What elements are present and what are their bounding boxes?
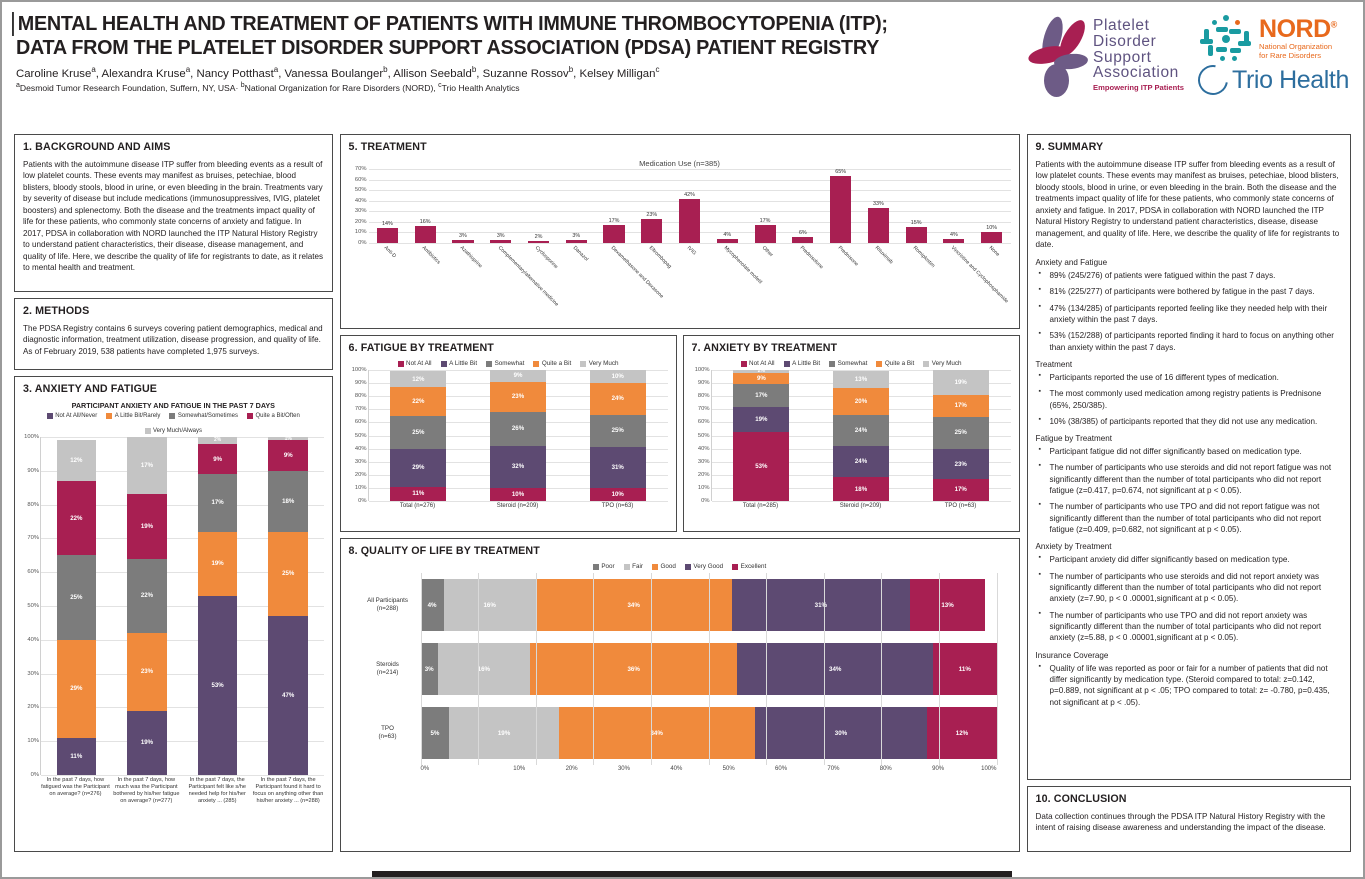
section-9-groups: Anxiety and Fatigue89% (245/276) of pati… [1036,258,1342,708]
bar-row: All Participants(n=288)4%16%34%31%13% [355,573,997,637]
legend-swatch-icon [47,413,53,419]
y-axis-tick: 70% [27,535,39,541]
bar-segment: 4% [421,579,444,631]
y-axis-tick: 40% [355,198,367,204]
gridline [593,701,594,765]
section-methods: 2. METHODS The PDSA Registry contains 6 … [14,298,333,370]
summary-bullet: 10% (38/385) of participants reported th… [1036,416,1342,427]
summary-list: Participants reported the use of 16 diff… [1036,372,1342,427]
y-axis-tick: 90% [355,380,367,386]
bar [679,199,700,243]
bar-segment: 26% [490,412,546,446]
bar-slot: 3% [444,169,482,243]
bar-segment: 34% [559,707,755,759]
x-axis-category: In the past 7 days, how fatigued was the… [40,777,111,805]
gridline [881,637,882,701]
x-axis-tick: 50% [682,766,734,772]
gridline [766,573,767,637]
stacked-bar: 53%19%17%9%2% [198,437,238,775]
x-axis-label-slot: Azathioprine [444,244,482,330]
gridline [997,573,998,637]
x-axis-label-slot: Vincristine and Cyclophosphamide [935,244,973,330]
author-list: Caroline Krusea, Alexandra Krusea, Nancy… [16,65,1020,81]
section-8-heading: 8. QUALITY OF LIFE BY TREATMENT [349,545,1011,557]
bar-segment: 25% [390,416,446,449]
bar-slot: 4% [935,169,973,243]
x-axis-label-slot: Prednisone [822,244,860,330]
bar-value-label: 4% [723,232,731,238]
bar-segment: 25% [590,415,646,448]
legend-item: Somewhat [486,360,524,367]
nord-wordmark: NORD® National Organization for Rare Dis… [1259,17,1337,60]
bar-slot: 4% [708,169,746,243]
legend-item: Not At All [741,360,775,367]
summary-bullet: The number of participants who use stero… [1036,462,1342,496]
bar-segment: 22% [390,387,446,416]
header-title-block: MENTAL HEALTH AND TREATMENT OF PATIENTS … [16,12,1028,94]
section-2-heading: 2. METHODS [23,305,324,317]
section-quality-of-life-by-treatment: 8. QUALITY OF LIFE BY TREATMENT PoorFair… [340,538,1020,852]
section-7-x-axis: Total (n=285)Steroid (n=209)TPO (n=63) [711,503,1011,511]
bar-slot: 10% [973,169,1011,243]
summary-group-title: Anxiety and Fatigue [1036,258,1342,267]
x-axis-category: Steroid (n=209) [468,503,568,511]
summary-group-title: Anxiety by Treatment [1036,542,1342,551]
gridline [824,701,825,765]
y-axis-tick: 40% [27,637,39,643]
nord-sub-line-2: for Rare Disorders [1259,52,1337,61]
summary-bullet: Participants reported the use of 16 diff… [1036,372,1342,383]
bar-segment: 17% [933,395,989,417]
x-axis-tick: 0% [421,766,473,772]
gridline [421,637,422,701]
legend-item: Very Much [923,360,961,367]
gridline [766,637,767,701]
y-axis-tick: 0% [31,772,39,778]
gridline [369,501,668,502]
legend-label: Very Good [693,563,723,570]
legend-item: Very Good [685,563,723,570]
legend-item: Somewhat [829,360,867,367]
x-axis-label-slot: Romiplostim [897,244,935,330]
pdsa-line-2: Disorder [1093,34,1184,50]
x-axis-tick: 100% [944,766,996,772]
bar-segment: 29% [390,449,446,487]
summary-bullet: 81% (225/277) of participants were bothe… [1036,286,1342,297]
bar-slot: 19%23%22%19%17% [112,437,183,775]
bar-group: 14%16%3%3%2%3%17%23%42%4%17%6%65%33%15%4… [369,169,1011,243]
x-axis-category: In the past 7 days, how much was the Par… [111,777,182,805]
bar-segment: 9% [198,444,238,474]
bar-segment: 9% [490,370,546,382]
legend-label: Poor [601,563,614,570]
header-logos: Platelet Disorder Support Association Em… [1028,12,1349,96]
legend-label: Quite a Bit/Often [255,413,299,419]
legend-swatch-icon [169,413,175,419]
x-axis-category: Anti-D [383,245,397,259]
legend-swatch-icon [784,361,790,367]
legend-label: Quite a Bit [542,360,571,367]
gridline [651,701,652,765]
summary-bullet: Participant fatigue did not differ signi… [1036,446,1342,457]
x-axis-tick: 70% [787,766,839,772]
y-axis-tick: 30% [698,459,710,465]
gridline [881,573,882,637]
bar-segment: 19% [733,407,789,432]
bar-segment: 23% [933,449,989,479]
bar-value-label: 3% [572,233,580,239]
legend-label: Somewhat [838,360,868,367]
section-3-chart-title: PARTICIPANT ANXIETY AND FATIGUE IN THE P… [23,401,324,410]
bar-slot: 53%19%17%9%2% [182,437,253,775]
y-axis-tick: 20% [698,472,710,478]
summary-bullet: Quality of life was reported as poor or … [1036,663,1342,708]
gridline [939,573,940,637]
legend-label: Fair [632,563,643,570]
bar-segment: 25% [933,417,989,449]
bar-slot: 15% [897,169,935,243]
bar-value-label: 42% [684,192,695,198]
bar-segment: 47% [268,616,308,775]
y-axis-tick: 0% [358,498,366,504]
bar-segment: 17% [733,384,789,406]
legend-label: Not At All [406,360,432,367]
section-5-chart-title: Medication Use (n=385) [349,159,1011,168]
y-axis-tick: 100% [24,434,39,440]
bar [755,225,776,243]
y-axis-tick: 80% [27,502,39,508]
bar-slot: 2% [520,169,558,243]
bar-value-label: 65% [835,169,846,175]
bar-slot: 17% [595,169,633,243]
section-3-legend: Not At All/NeverA Little Bit/RarelySomew… [23,413,324,434]
y-axis-category: All Participants(n=288) [355,597,421,613]
bar-segment: 3% [421,643,438,695]
x-axis-label-slot: IVIG [671,244,709,330]
nord-burst-icon [1198,15,1254,63]
y-axis-tick: 10% [698,485,710,491]
section-8-plot: All Participants(n=288)4%16%34%31%13%Ste… [355,573,997,765]
section-6-plot: 0%10%20%30%40%50%60%70%80%90%100%11%29%2… [368,370,668,501]
section-10-heading: 10. CONCLUSION [1036,793,1342,805]
bar-slot: 6% [784,169,822,243]
summary-bullet: 47% (134/285) of participants reported f… [1036,303,1342,326]
summary-bullet: The number of participants who use stero… [1036,571,1342,605]
summary-bullet: The number of participants who use TPO a… [1036,610,1342,644]
bar-segment: 53% [733,432,789,501]
y-axis-tick: 0% [358,240,366,246]
summary-group-title: Treatment [1036,360,1342,369]
bar-slot: 53%19%17%9%2% [712,370,812,501]
bar-value-label: 6% [799,230,807,236]
legend-swatch-icon [486,361,492,367]
legend-label: A Little Bit [792,360,820,367]
x-axis-tick: 30% [578,766,630,772]
y-axis-tick: 50% [698,433,710,439]
bar-segment: 19% [127,711,167,775]
legend-swatch-icon [398,361,404,367]
y-axis-tick: 40% [355,446,367,452]
summary-bullet: Participant anxiety did differ significa… [1036,554,1342,565]
pdsa-line-4: Association [1093,65,1184,81]
bar-segment: 9% [268,440,308,470]
x-axis-label-slot: Cyclosporine [520,244,558,330]
legend-label: Very Much [589,360,619,367]
bar-value-label: 3% [497,233,505,239]
section-1-heading: 1. BACKGROUND AND AIMS [23,141,324,153]
gridline [997,637,998,701]
trio-health-logo: Trio Health [1198,65,1349,95]
bar-segment: 34% [536,579,732,631]
bar [452,240,473,243]
section-5-plot: 0%10%20%30%40%50%60%70%14%16%3%3%2%3%17%… [369,169,1011,243]
legend-label: Somewhat/Sometimes [178,413,238,419]
x-axis-tick: 80% [839,766,891,772]
section-2-body: The PDSA Registry contains 6 surveys cov… [23,323,324,357]
y-axis-category: TPO(n=63) [355,725,421,741]
summary-bullet: 89% (245/276) of patients were fatigued … [1036,270,1342,281]
section-3-x-axis: In the past 7 days, how fatigued was the… [40,777,324,805]
stacked-bar: 10%32%26%23%9% [490,370,546,501]
bar-group: 11%29%25%22%12%19%23%22%19%17%53%19%17%9… [41,437,324,775]
x-axis-category: Eltrombopag [648,245,673,270]
gridline [421,701,422,765]
y-axis-tick: 10% [27,738,39,744]
section-6-legend: Not At AllA Little BitSomewhatQuite a Bi… [349,360,668,367]
legend-item: A Little Bit [784,360,821,367]
section-7-plot: 0%10%20%30%40%50%60%70%80%90%100%53%19%1… [711,370,1011,501]
bar-segment: 16% [438,643,530,695]
gridline [536,701,537,765]
x-axis-category: Prednisone [836,245,858,267]
section-6-heading: 6. FATIGUE BY TREATMENT [349,342,668,354]
legend-item: Quite a Bit/Often [247,413,300,419]
gridline [709,701,710,765]
y-axis-tick: 100% [352,367,367,373]
bar-track: 4%16%34%31%13% [421,573,997,637]
bar-segment: 32% [490,446,546,488]
summary-group-title: Insurance Coverage [1036,651,1342,660]
x-axis-category: TPO (n=63) [911,503,1011,511]
bar-segment: 24% [590,383,646,414]
poster-columns: 1. BACKGROUND AND AIMS Patients with the… [10,134,1355,852]
bar-segment: 19% [449,707,558,759]
bar-slot: 42% [671,169,709,243]
legend-item: Not At All [398,360,432,367]
bar-slot: 14% [369,169,407,243]
bar [906,227,927,243]
footer-strip [2,869,1363,877]
stacked-bar: 11%29%25%22%12% [390,370,446,501]
section-conclusion: 10. CONCLUSION Data collection continues… [1027,786,1351,852]
x-axis-category: None [987,245,1000,258]
trio-swirl-icon [1192,59,1234,101]
bar [641,219,662,243]
footer-bar [372,871,1012,877]
section-5-heading: 5. TREATMENT [349,141,1011,153]
gridline [41,775,324,776]
x-axis-category: Cyclosporine [534,245,559,270]
bar-slot: 33% [859,169,897,243]
x-axis-category: Azathioprine [459,245,483,269]
bar-segment: 24% [833,415,889,446]
bar [943,239,964,243]
bar-value-label: 15% [911,220,922,226]
x-axis-label-slot: Prednisolone [784,244,822,330]
bar-row: Steroids(n=214)3%16%36%34%11% [355,637,997,701]
legend-item: Very Much/Always [145,428,203,434]
y-axis-tick: 30% [355,208,367,214]
x-axis-category: Danazol [572,245,589,262]
stacked-bar: 11%29%25%22%12% [57,437,97,775]
y-axis-tick: 70% [355,166,367,172]
bar-value-label: 33% [873,201,884,207]
gridline [709,573,710,637]
bar [490,240,511,243]
legend-item: Somewhat/Sometimes [169,413,238,419]
y-axis-tick: 0% [701,498,709,504]
legend-label: Excellent [741,563,767,570]
y-axis-tick: 30% [27,671,39,677]
gridline [824,573,825,637]
section-8-x-axis: 0%10%20%30%40%50%60%70%80%90%100% [421,766,997,772]
bar-segment: 12% [927,707,996,759]
gridline [709,637,710,701]
gridline [651,573,652,637]
y-axis-category: Steroids(n=214) [355,661,421,677]
section-1-body: Patients with the autoimmune disease ITP… [23,159,324,274]
x-axis-category: Romiplostim [912,245,936,269]
bar-segment: 22% [57,481,97,555]
bar-value-label: 17% [609,218,620,224]
bar-segment: 10% [590,370,646,383]
legend-swatch-icon [106,413,112,419]
bar [528,241,549,243]
legend-item: Very Much [580,360,618,367]
legend-item: A Little Bit [441,360,478,367]
bar-value-label: 10% [986,225,997,231]
bar-segment: 31% [732,579,911,631]
pdsa-line-1: Platelet [1093,18,1184,34]
summary-list: Quality of life was reported as poor or … [1036,663,1342,708]
bar-track: 3%16%36%34%11% [421,637,997,701]
bar-segment: 25% [268,532,308,617]
nord-registered-icon: ® [1331,20,1337,30]
bar-segment: 36% [530,643,737,695]
bar-segment: 53% [198,596,238,775]
summary-bullet: The most commonly used medication among … [1036,388,1342,411]
summary-list: 89% (245/276) of patients were fatigued … [1036,270,1342,353]
page-title-line-1: MENTAL HEALTH AND TREATMENT OF PATIENTS … [12,12,985,36]
x-axis-label-slot: None [973,244,1011,330]
bar-row: TPO(n=63)5%19%34%30%12% [355,701,997,765]
right-column: 9. SUMMARY Patients with the autoimmune … [1027,134,1351,852]
bar-group: 11%29%25%22%12%10%32%26%23%9%10%31%25%24… [369,370,668,501]
bar-segment: 13% [910,579,985,631]
x-axis-category: Antibiotics [421,245,442,266]
legend-label: Not At All/Never [55,413,97,419]
affiliation-list: aDesmoid Tumor Research Foundation, Suff… [16,82,1020,94]
x-axis-tick: 90% [892,766,944,772]
bar [717,239,738,243]
y-axis-tick: 20% [27,704,39,710]
bar-segment: 19% [127,494,167,558]
bar-value-label: 4% [950,232,958,238]
x-axis-category: In the past 7 days, the Participant foun… [253,777,324,805]
bar-slot: 11%29%25%22%12% [41,437,112,775]
x-axis-label-slot: Rituximab [859,244,897,330]
section-5-x-axis: Anti-DAntibioticsAzathioprineComplementa… [369,244,1011,330]
bar-slot: 47%25%18%9%1% [253,437,324,775]
bar-slot: 18%24%24%20%13% [811,370,911,501]
bar-segment: 12% [390,371,446,387]
y-axis-tick: 60% [27,569,39,575]
y-axis-tick: 60% [355,419,367,425]
bar [981,232,1002,243]
bar-segment: 19% [933,370,989,395]
poster-header: MENTAL HEALTH AND TREATMENT OF PATIENTS … [10,8,1355,134]
x-axis-category: TPO (n=63) [568,503,668,511]
bar-segment: 19% [198,532,238,596]
y-axis-tick: 80% [355,393,367,399]
bar-value-label: 17% [760,218,771,224]
bar-segment: 20% [833,388,889,414]
legend-label: Somewhat [495,360,525,367]
gridline [939,637,940,701]
gridline [478,637,479,701]
x-axis-tick: 10% [473,766,525,772]
bar-segment: 18% [833,477,889,501]
legend-swatch-icon [533,361,539,367]
nord-name: NORD [1259,15,1331,43]
bar-slot: 3% [557,169,595,243]
middle-column: 5. TREATMENT Medication Use (n=385) 0%10… [340,134,1020,852]
x-axis-label-slot: Antibiotics [406,244,444,330]
y-axis-tick: 30% [355,459,367,465]
bar-segment: 11% [933,643,996,695]
legend-item: Quite a Bit [533,360,571,367]
legend-swatch-icon [593,564,599,570]
bar-segment: 25% [57,555,97,640]
bar-segment: 11% [390,487,446,501]
gridline [939,701,940,765]
bar-segment: 17% [127,437,167,494]
legend-item: A Little Bit/Rarely [106,413,160,419]
bar-value-label: 2% [535,234,543,240]
x-axis-category: In the past 7 days, the Participant felt… [182,777,253,805]
x-axis-label-slot: Dexamethasone and Dexasone [595,244,633,330]
bar-slot: 23% [633,169,671,243]
bar-slot: 11%29%25%22%12% [369,370,469,501]
bar-segment: 24% [833,446,889,477]
legend-label: Not At All [749,360,775,367]
legend-swatch-icon [685,564,691,570]
bar-segment: 17% [933,479,989,501]
bar [868,208,889,243]
bar [792,237,813,243]
bar-segment: 22% [127,559,167,633]
bar-segment: 23% [490,382,546,412]
legend-item: Fair [624,563,643,570]
bar-group: 53%19%17%9%2%18%24%24%20%13%17%23%25%17%… [712,370,1011,501]
x-axis-category: Prednisolone [799,245,824,270]
bar-slot: 17%23%25%17%19% [911,370,1011,501]
bar-segment: 9% [733,373,789,385]
bar-slot: 10%32%26%23%9% [468,370,568,501]
legend-swatch-icon [247,413,253,419]
bar [415,226,436,243]
bar [566,240,587,243]
